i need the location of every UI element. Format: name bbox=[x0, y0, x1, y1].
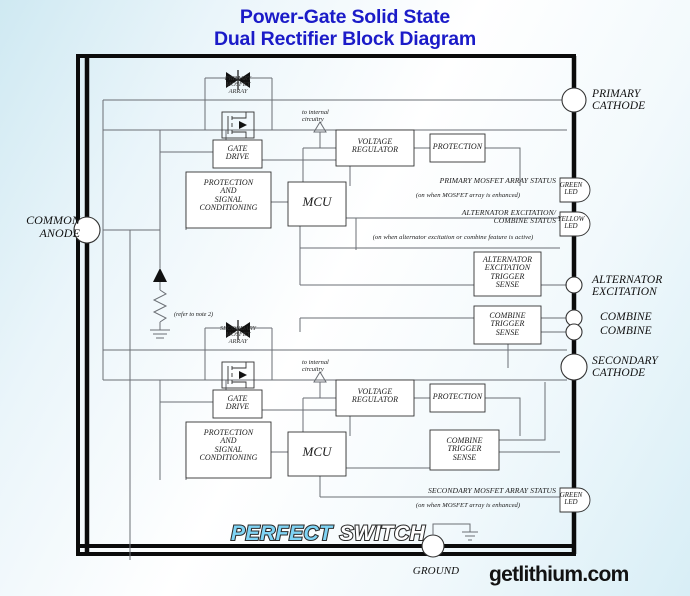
logo-word-perfect: PERFECT bbox=[231, 522, 333, 545]
schematic-lines bbox=[0, 0, 690, 596]
logo-word-switch: SWITCH bbox=[340, 522, 426, 545]
diagram-canvas: Power-Gate Solid State Dual Rectifier Bl… bbox=[0, 0, 690, 596]
getlithium-brand[interactable]: getlithium.com bbox=[489, 563, 629, 587]
perfect-switch-logo: PERFECTSWITCH bbox=[231, 522, 425, 546]
